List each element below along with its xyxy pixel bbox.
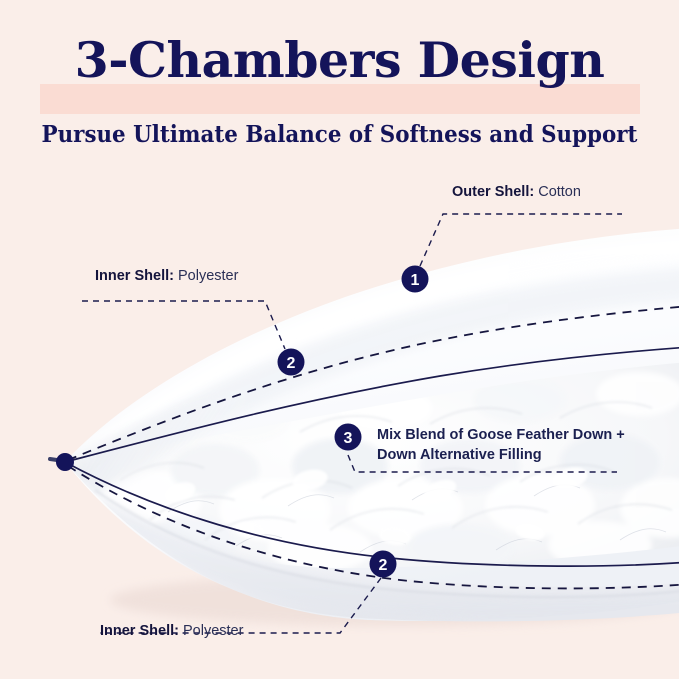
callout-outer-shell-label: Outer Shell:	[452, 184, 534, 200]
callout-filling: Mix Blend of Goose Feather Down + Down A…	[377, 425, 659, 465]
callout-inner-shell-bottom: Inner Shell: Polyester	[100, 621, 243, 641]
infographic-canvas: 3-Chambers Design Pursue Ultimate Balanc…	[0, 0, 679, 679]
callout-inner-shell-bottom-label: Inner Shell:	[100, 623, 179, 639]
badge-1-label: 1	[411, 272, 420, 289]
callout-outer-shell: Outer Shell: Cotton	[452, 182, 581, 202]
badge-1[interactable]: 1	[402, 266, 429, 293]
badge-3[interactable]: 3	[335, 424, 362, 451]
badge-2-bottom[interactable]: 2	[370, 551, 397, 578]
pillow-tip-marker	[50, 453, 74, 471]
callout-inner-shell-top-value: Polyester	[178, 268, 238, 284]
badge-2-top[interactable]: 2	[278, 349, 305, 376]
badge-2-top-label: 2	[287, 355, 296, 372]
badge-2-bottom-label: 2	[379, 557, 388, 574]
callout-inner-shell-bottom-value: Polyester	[183, 623, 243, 639]
callout-inner-shell-top: Inner Shell: Polyester	[95, 266, 238, 286]
callout-filling-line1: Mix Blend of Goose Feather Down +	[377, 427, 625, 443]
callout-filling-line2: Down Alternative Filling	[377, 447, 542, 463]
pillow-diagram: 1 2 3 2	[0, 0, 679, 679]
callout-outer-shell-value: Cotton	[538, 184, 581, 200]
badge-3-label: 3	[344, 430, 353, 447]
callout-inner-shell-top-label: Inner Shell:	[95, 268, 174, 284]
